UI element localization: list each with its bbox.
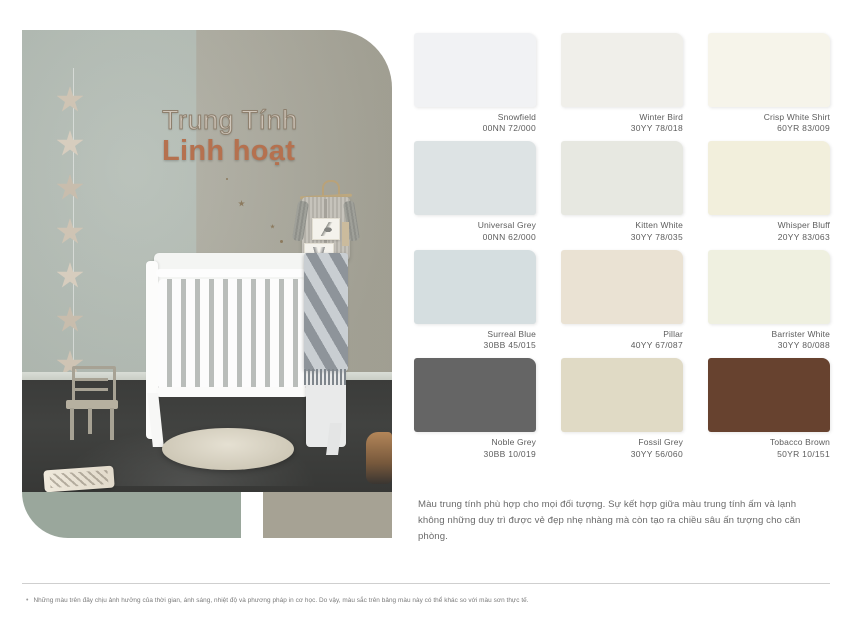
swatch-cell[interactable]: Kitten White30YY 78/035 <box>561 141 683 242</box>
swatch-name: Kitten White <box>635 220 683 230</box>
band-gap <box>241 492 263 538</box>
swatch-code: 00NN 72/000 <box>414 123 536 134</box>
color-chip[interactable] <box>708 250 830 324</box>
color-bands <box>22 492 392 538</box>
star-icon <box>56 174 84 202</box>
swatch-cell[interactable]: Pillar40YY 67/087 <box>561 250 683 351</box>
swatch-name: Surreal Blue <box>487 329 536 339</box>
chair-slat <box>74 388 108 391</box>
palette-description: Màu trung tính phù hợp cho mọi đối tượng… <box>418 497 822 545</box>
color-chip[interactable] <box>561 141 683 215</box>
swatch-cell[interactable]: Snowfield00NN 72/000 <box>414 33 536 134</box>
color-chip[interactable] <box>414 250 536 324</box>
color-chip[interactable] <box>414 358 536 432</box>
swatch-code: 20YY 83/063 <box>708 232 830 243</box>
swatch-grid: Snowfield00NN 72/000Winter Bird30YY 78/0… <box>414 33 830 460</box>
swatch-cell[interactable]: Surreal Blue30BB 45/015 <box>414 250 536 351</box>
color-chip[interactable] <box>561 33 683 107</box>
draped-blanket <box>304 253 348 371</box>
star-icon <box>56 130 84 158</box>
swatch-label: Surreal Blue30BB 45/015 <box>414 329 536 351</box>
swatch-code: 30YY 78/018 <box>561 123 683 134</box>
hero-headline: Trung Tính Linh hoạt <box>162 106 392 168</box>
swatch-code: 40YY 67/087 <box>561 340 683 351</box>
star-icon <box>56 306 84 334</box>
swatch-cell[interactable]: Noble Grey30BB 10/019 <box>414 358 536 459</box>
headline-line-2: Linh hoạt <box>162 136 392 168</box>
swatch-name: Winter Bird <box>639 112 683 122</box>
swatch-label: Noble Grey30BB 10/019 <box>414 437 536 459</box>
color-chip[interactable] <box>414 141 536 215</box>
swatch-label: Tobacco Brown50YR 10/151 <box>708 437 830 459</box>
swatch-label: Kitten White30YY 78/035 <box>561 220 683 242</box>
swatch-label: Crisp White Shirt60YR 83/009 <box>708 112 830 134</box>
color-palette: Snowfield00NN 72/000Winter Bird30YY 78/0… <box>414 33 830 460</box>
baby-crib <box>140 247 350 452</box>
swatch-name: Tobacco Brown <box>770 437 830 447</box>
wall-dot-icon <box>226 178 228 180</box>
color-chip[interactable] <box>708 358 830 432</box>
swatch-cell[interactable]: Whisper Bluff20YY 83/063 <box>708 141 830 242</box>
swatch-code: 30YY 56/060 <box>561 449 683 460</box>
swatch-label: Snowfield00NN 72/000 <box>414 112 536 134</box>
bullet-icon: • <box>26 597 29 606</box>
swatch-code: 50YR 10/151 <box>708 449 830 460</box>
crib-leg <box>326 423 342 455</box>
color-chip[interactable] <box>708 33 830 107</box>
swatch-name: Universal Grey <box>478 220 536 230</box>
footer-note: • Những màu trên đây chịu ảnh hưởng của … <box>26 597 832 606</box>
blanket-fringe <box>304 369 348 385</box>
star-icon <box>56 262 84 290</box>
swatch-label: Universal Grey00NN 62/000 <box>414 220 536 242</box>
band-right <box>263 492 392 538</box>
swatch-cell[interactable]: Universal Grey00NN 62/000 <box>414 141 536 242</box>
swatch-name: Noble Grey <box>492 437 537 447</box>
swatch-code: 30YY 78/035 <box>561 232 683 243</box>
color-chip[interactable] <box>561 250 683 324</box>
star-icon <box>56 218 84 246</box>
band-left <box>22 492 241 538</box>
wall-dot-icon <box>280 240 283 243</box>
star-garland <box>56 68 92 408</box>
swatch-cell[interactable]: Tobacco Brown50YR 10/151 <box>708 358 830 459</box>
color-chip[interactable] <box>414 33 536 107</box>
color-chip[interactable] <box>708 141 830 215</box>
swatch-cell[interactable]: Fossil Grey30YY 56/060 <box>561 358 683 459</box>
page-root: Trung Tính Linh hoạt Snowfield00NN 72/00… <box>0 0 852 639</box>
crib-top-rail <box>156 269 306 277</box>
wooden-chair <box>66 366 120 438</box>
swatch-name: Whisper Bluff <box>778 220 830 230</box>
chair-leg <box>110 408 114 440</box>
swatch-label: Whisper Bluff20YY 83/063 <box>708 220 830 242</box>
crib-bottom-rail <box>156 387 308 397</box>
dog-figure <box>366 432 392 484</box>
footer-note-text: Những màu trên đây chịu ảnh hưởng của th… <box>34 597 529 606</box>
swatch-label: Pillar40YY 67/087 <box>561 329 683 351</box>
nursery-room-photo: Trung Tính Linh hoạt <box>22 30 392 492</box>
footer-divider <box>22 583 830 584</box>
chair-leg <box>88 408 92 434</box>
chair-slat <box>74 378 108 381</box>
chair-leg <box>70 408 74 440</box>
swatch-name: Snowfield <box>498 112 536 122</box>
paper-tag <box>342 222 349 246</box>
swatch-code: 30BB 45/015 <box>414 340 536 351</box>
swatch-label: Barrister White30YY 80/088 <box>708 329 830 351</box>
swatch-name: Crisp White Shirt <box>764 112 830 122</box>
swatch-cell[interactable]: Crisp White Shirt60YR 83/009 <box>708 33 830 134</box>
swatch-name: Fossil Grey <box>638 437 683 447</box>
bird-card <box>312 218 340 240</box>
floor-mat <box>43 466 114 492</box>
round-rug <box>162 428 294 470</box>
swatch-name: Barrister White <box>772 329 830 339</box>
swatch-cell[interactable]: Winter Bird30YY 78/018 <box>561 33 683 134</box>
swatch-name: Pillar <box>663 329 683 339</box>
star-icon <box>56 86 84 114</box>
swatch-label: Fossil Grey30YY 56/060 <box>561 437 683 459</box>
bird-icon <box>316 222 336 236</box>
swatch-code: 00NN 62/000 <box>414 232 536 243</box>
swatch-label: Winter Bird30YY 78/018 <box>561 112 683 134</box>
crib-bars <box>158 279 306 391</box>
hero-visual: Trung Tính Linh hoạt <box>22 30 392 538</box>
swatch-cell[interactable]: Barrister White30YY 80/088 <box>708 250 830 351</box>
swatch-code: 30YY 80/088 <box>708 340 830 351</box>
swatch-code: 30BB 10/019 <box>414 449 536 460</box>
swatch-code: 60YR 83/009 <box>708 123 830 134</box>
color-chip[interactable] <box>561 358 683 432</box>
headline-line-1: Trung Tính <box>162 106 392 134</box>
